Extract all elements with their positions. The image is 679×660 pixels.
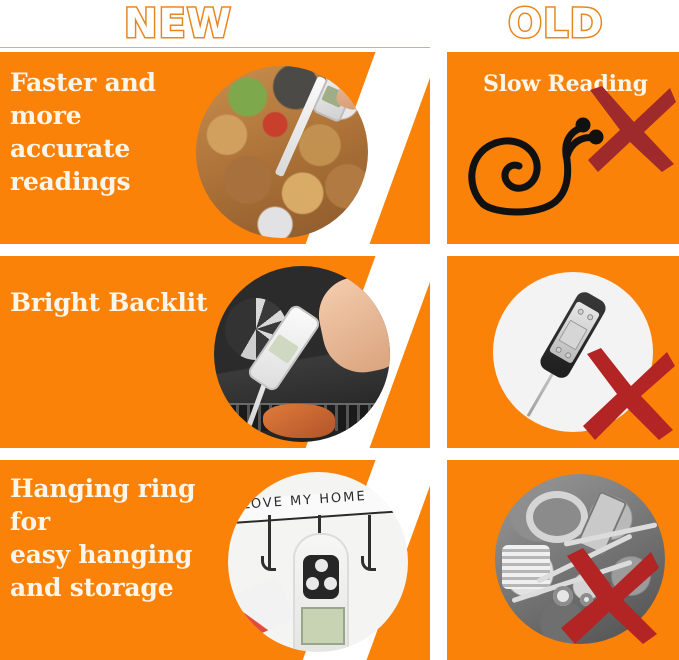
wall-hook-1 (268, 515, 271, 569)
probe-screw-3 (555, 346, 563, 354)
device-lcd-screen (301, 607, 345, 645)
row-2-old-panel (447, 256, 679, 448)
hanging-tool (228, 576, 295, 646)
row-3-new-panel: Hanging ring for easy hanging and storag… (0, 460, 430, 660)
comparison-infographic: NEW OLD Faster and more accurate reading… (0, 0, 679, 660)
backlit-thermometer-photo (214, 266, 390, 442)
grilled-meat (263, 404, 335, 438)
hanging-thermometer (293, 533, 349, 652)
row-3-new-text: Hanging ring for easy hanging and storag… (10, 472, 230, 604)
button-pad (303, 555, 339, 599)
header-old-label: OLD (508, 1, 604, 47)
row-2-red-x-icon (577, 346, 677, 442)
row-1-new-panel: Faster and more accurate readings (0, 52, 430, 244)
probe-screw-4 (564, 351, 572, 359)
row-1-red-x-icon (582, 84, 678, 174)
header-bar: NEW OLD (0, 0, 679, 48)
comparison-row-2: Bright Backlit (0, 256, 679, 448)
device-button-3 (324, 577, 337, 590)
backlit-lcd-screen (268, 334, 299, 364)
probe-screw-1 (577, 308, 585, 316)
drawer-tube (526, 491, 588, 543)
header-new-label: NEW (124, 1, 232, 47)
comparison-row-3: Hanging ring for easy hanging and storag… (0, 460, 679, 660)
drawer-coil (502, 545, 550, 589)
hanging-ring-photo: LOVE MY HOME (228, 472, 408, 652)
wall-hook-3 (368, 515, 371, 569)
row-3-red-x-icon (557, 546, 663, 646)
row-2-new-text: Bright Backlit (10, 286, 230, 319)
hand (312, 270, 390, 380)
bbq-probe-shaft (274, 76, 326, 177)
header-underline (0, 47, 430, 48)
row-3-old-panel (447, 460, 679, 660)
probe-screw-2 (586, 313, 594, 321)
device-button-2 (306, 577, 319, 590)
comparison-row-1: Faster and more accurate readings Slow R… (0, 52, 679, 244)
row-1-old-panel: Slow Reading (447, 52, 679, 244)
row-1-new-text: Faster and more accurate readings (10, 66, 230, 198)
device-button-1 (315, 559, 328, 572)
row-2-new-panel: Bright Backlit (0, 256, 430, 448)
